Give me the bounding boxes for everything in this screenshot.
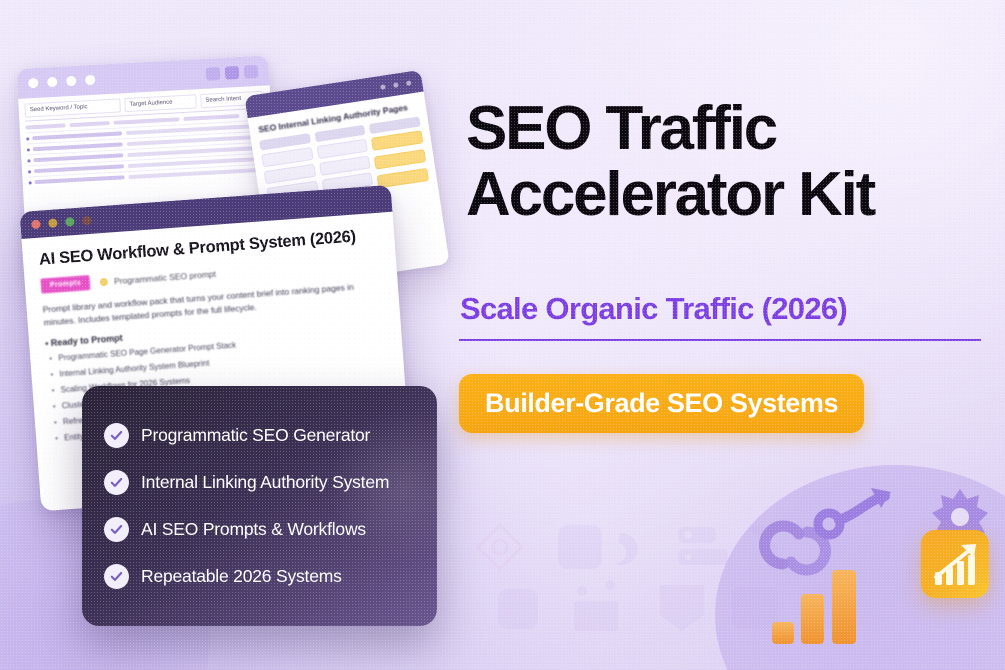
cta-badge[interactable]: Builder-Grade SEO Systems xyxy=(459,374,864,433)
mockup-action-button[interactable] xyxy=(377,168,429,188)
window-dots xyxy=(28,75,95,89)
chart-view-icon[interactable] xyxy=(225,65,240,79)
headline-line-1: SEO Traffic xyxy=(466,96,986,162)
list-item: Programmatic SEO Generator xyxy=(104,423,415,448)
list-item: AI SEO Prompts & Workflows xyxy=(104,517,415,542)
window-dot-close[interactable] xyxy=(31,220,41,230)
window-dot xyxy=(66,76,77,87)
list-item: Repeatable 2026 Systems xyxy=(104,564,415,589)
window-dot-minimize[interactable] xyxy=(48,218,58,228)
check-circle-icon xyxy=(104,517,129,542)
window-dot-extra[interactable] xyxy=(82,216,92,226)
window-dot xyxy=(47,77,58,88)
status-dot-icon xyxy=(100,277,109,286)
cta-badge-label: Builder-Grade SEO Systems xyxy=(485,388,838,418)
check-circle-icon xyxy=(104,470,129,495)
poster-canvas: Seed Keyword / Topic Target Audience Sea… xyxy=(0,0,1005,670)
window-dot xyxy=(28,78,39,89)
window-dot xyxy=(85,75,96,86)
headline-line-2: Accelerator Kit xyxy=(466,162,986,228)
check-circle-icon xyxy=(104,423,129,448)
window-dot-maximize[interactable] xyxy=(65,217,75,227)
arrow-growth-icon xyxy=(811,482,907,552)
spreadsheet-body: Seed Keyword / Topic Target Audience Sea… xyxy=(18,85,274,187)
column-header-keyword: Seed Keyword / Topic xyxy=(24,98,121,117)
bar-chart-icon xyxy=(772,566,872,644)
growth-chart-tile-icon xyxy=(921,530,989,598)
check-circle-icon xyxy=(104,564,129,589)
list-item: Internal Linking Authority System xyxy=(104,470,415,495)
feature-label: Repeatable 2026 Systems xyxy=(141,566,342,587)
page-title: SEO Traffic Accelerator Kit xyxy=(466,96,986,229)
column-header-audience: Target Audience xyxy=(124,94,197,112)
mockup-action-button[interactable] xyxy=(371,130,423,150)
window-dot xyxy=(393,82,399,88)
list-view-icon[interactable] xyxy=(206,66,221,80)
feature-checklist-card: Programmatic SEO Generator Internal Link… xyxy=(82,386,437,626)
mockup-action-button[interactable] xyxy=(374,149,426,169)
feature-label: Programmatic SEO Generator xyxy=(141,425,370,446)
window-toolbar[interactable] xyxy=(206,64,259,80)
status-badge: Prompts xyxy=(40,275,90,294)
window-dot xyxy=(406,80,412,86)
feature-label: Internal Linking Authority System xyxy=(141,472,389,493)
subtitle: Scale Organic Traffic (2026) xyxy=(460,291,847,327)
layout-view-icon[interactable] xyxy=(244,64,259,78)
feature-label: AI SEO Prompts & Workflows xyxy=(141,519,366,540)
decorative-icon-cluster xyxy=(775,440,1005,670)
subtitle-underline xyxy=(459,339,981,341)
window-dot xyxy=(380,84,386,90)
